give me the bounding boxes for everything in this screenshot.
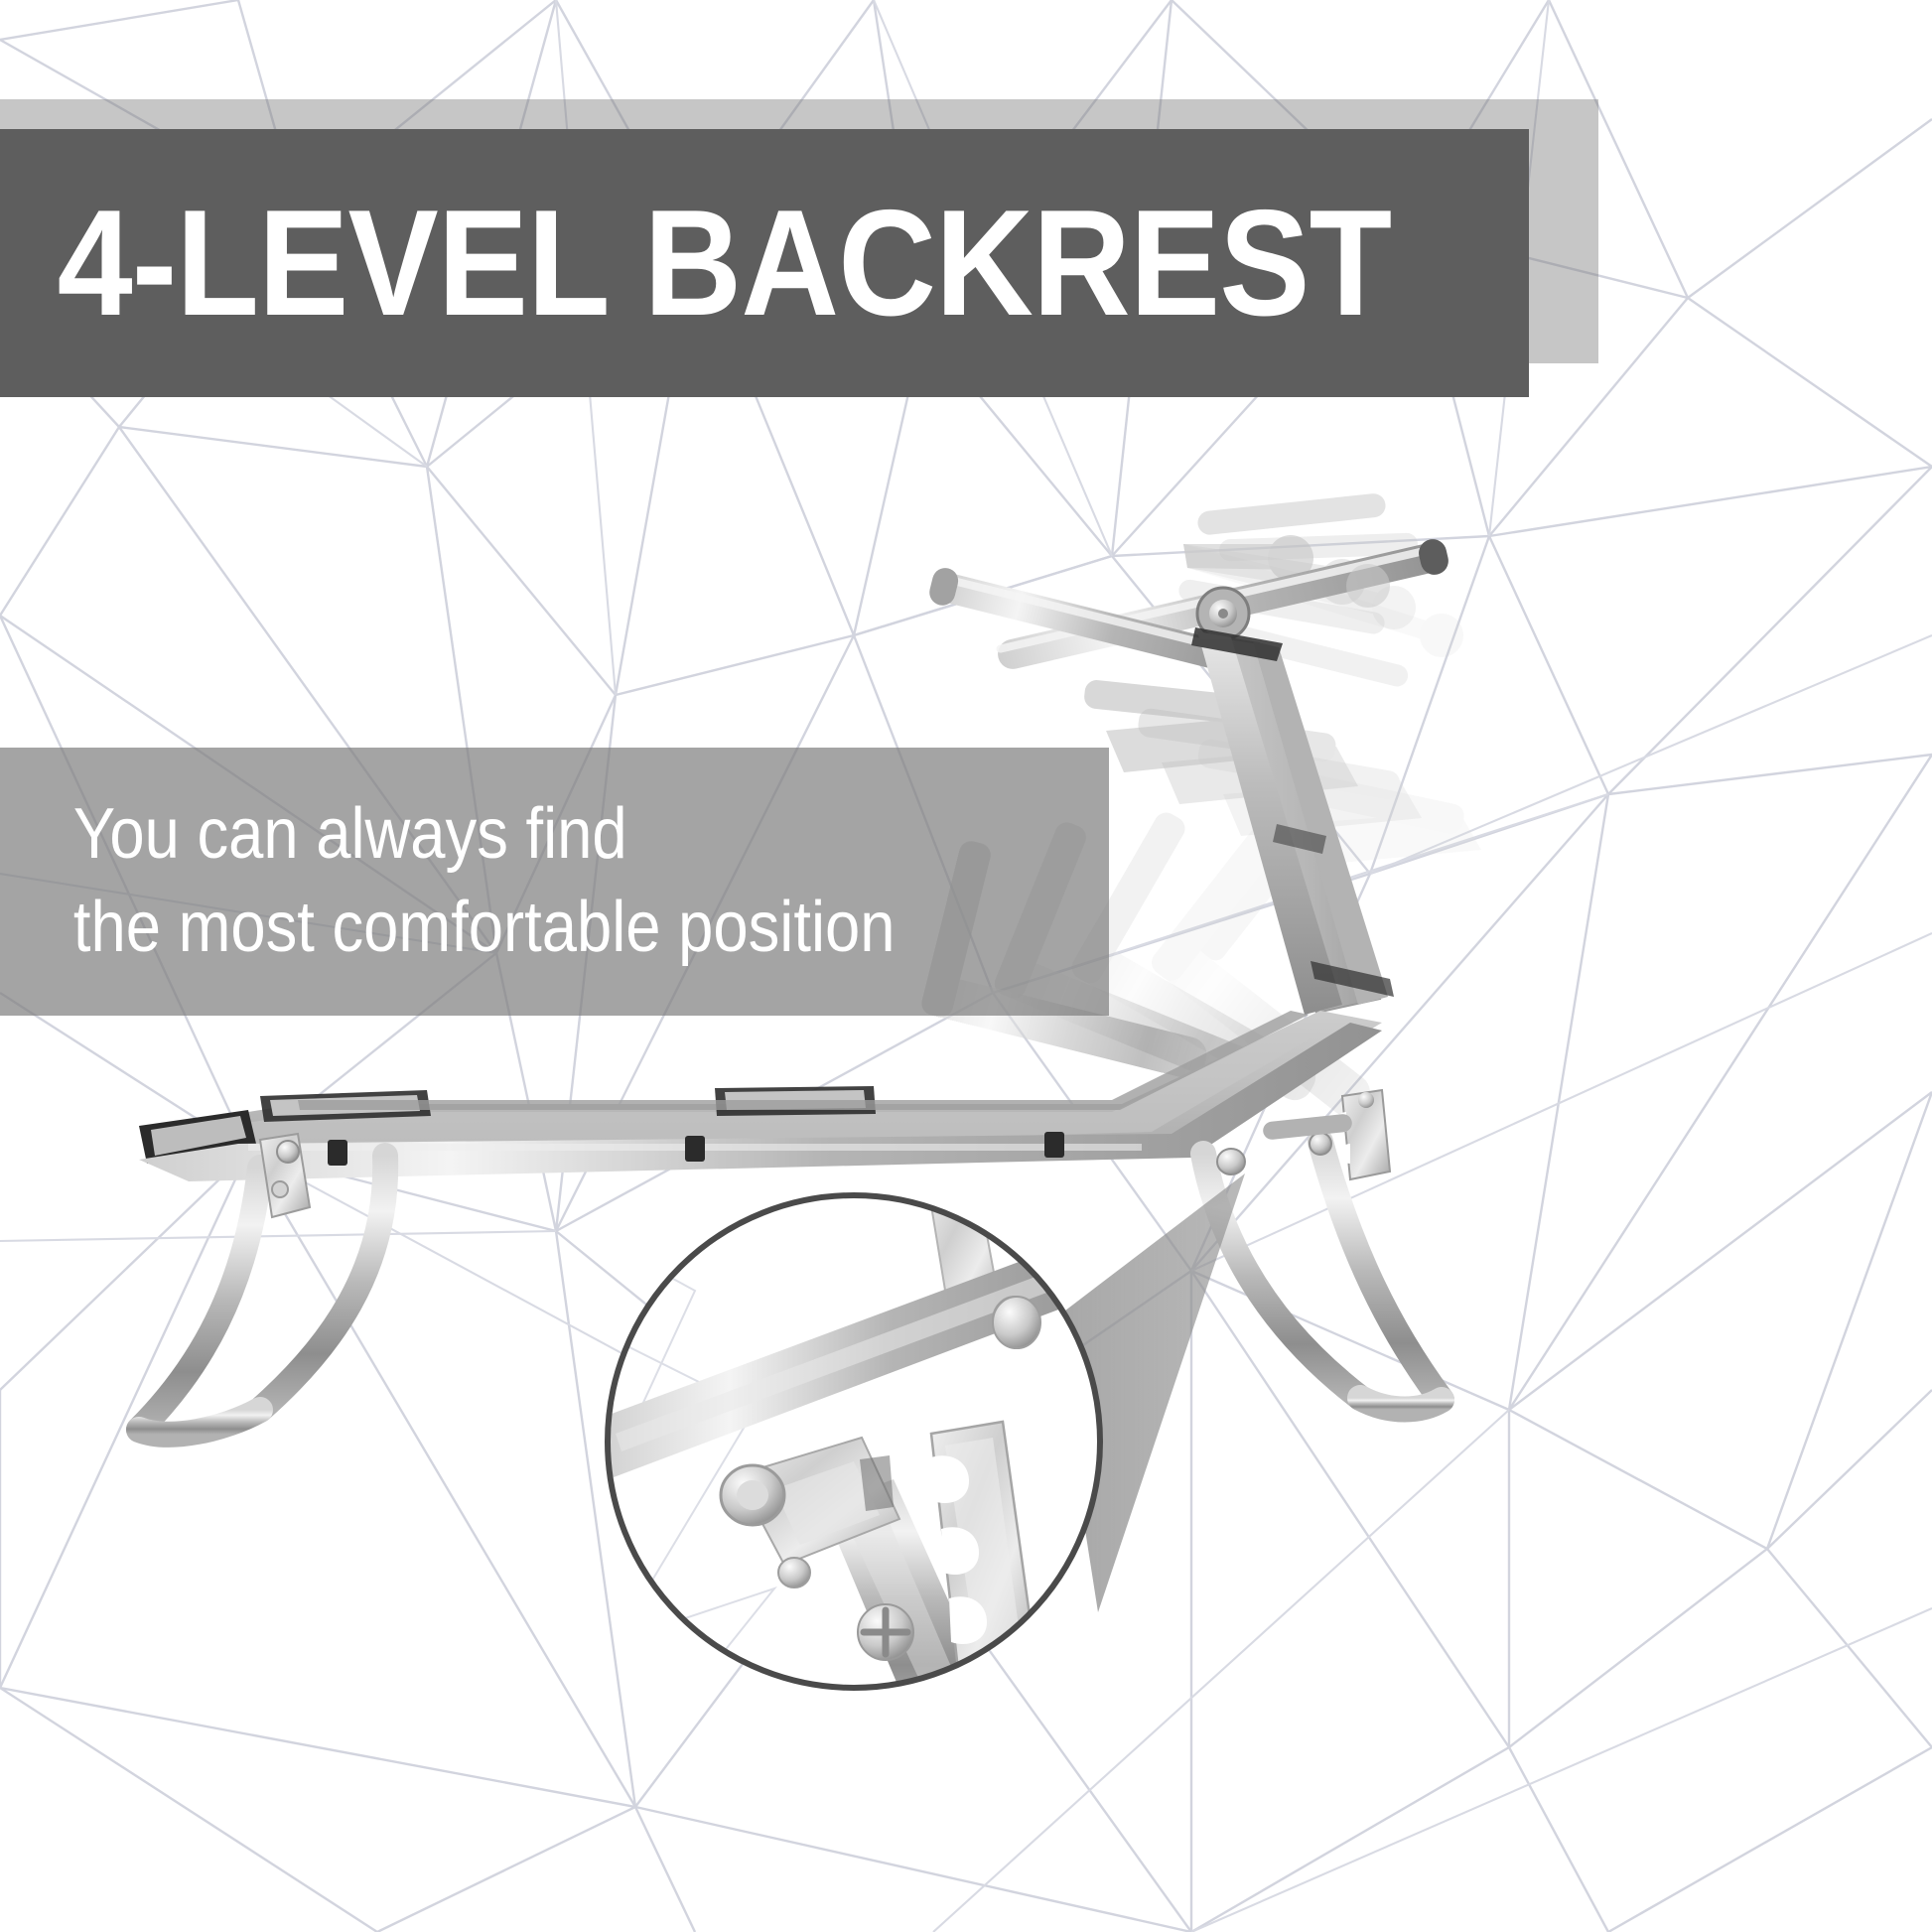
subtitle-line-2: the most comfortable position — [73, 882, 976, 975]
product-feature-graphic: .ml{stroke:#d2d4de;stroke-width:2.4;fill… — [0, 0, 1932, 1932]
headline-text: 4-LEVEL BACKREST — [0, 129, 1376, 397]
subtitle-line-1: You can always find — [73, 788, 976, 882]
rear-leg — [1203, 1133, 1442, 1410]
phillips-screw — [858, 1604, 913, 1660]
detail-callout-circle — [588, 1181, 1147, 1777]
chair-hinge-detail — [1217, 1149, 1245, 1174]
subtitle-text: You can always find the most comfortable… — [0, 748, 976, 1016]
front-leg — [139, 1134, 385, 1435]
